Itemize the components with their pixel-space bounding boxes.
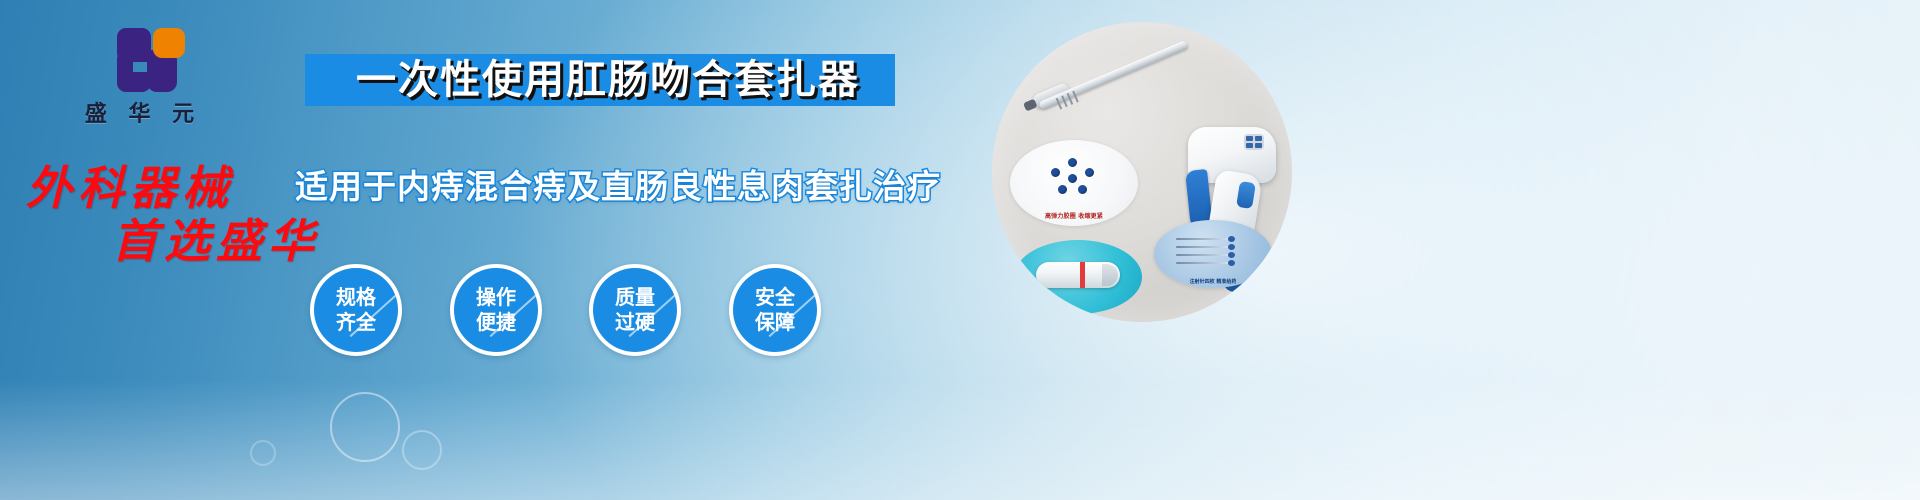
feature-list: 规格 齐全 操作 便捷 质量 过硬 安全 保障 (310, 264, 870, 364)
feature-label-line1: 安全 (755, 285, 795, 310)
decorative-bubble (402, 430, 442, 470)
feature-badge-operation[interactable]: 操作 便捷 (450, 264, 542, 356)
feature-badge-quality[interactable]: 质量 过硬 (589, 264, 681, 356)
feature-label-line1: 规格 (336, 285, 376, 310)
inset-caption-bands: 高弹力胶圈 收缩更紧 (1010, 211, 1138, 220)
inset-anoscope (1014, 240, 1142, 314)
inset-needles: 注射针四枚 精准给药 (1154, 220, 1272, 288)
anoscope-icon (1036, 262, 1120, 288)
brand-logo[interactable]: 盛 华 元 (58, 26, 228, 128)
feature-label-line1: 质量 (615, 285, 655, 310)
decorative-bubble (250, 440, 276, 466)
device-button-pad-icon (1244, 134, 1264, 150)
feature-badge-specifications[interactable]: 规格 齐全 (310, 264, 402, 356)
feature-label-line1: 操作 (476, 285, 516, 310)
feature-label-line2: 保障 (755, 310, 795, 335)
feature-label-line2: 便捷 (476, 310, 516, 335)
page-subtitle: 适用于内痔混合痔及直肠良性息肉套扎治疗 (295, 160, 915, 208)
feature-label-line2: 齐全 (336, 310, 376, 335)
slogan-line-2: 首选盛华 (112, 205, 320, 271)
brand-name: 盛 华 元 (58, 96, 228, 128)
feature-label-line2: 过硬 (615, 310, 655, 335)
rubber-bands-icon (1048, 158, 1100, 198)
page-title: 一次性使用肛肠吻合套扎器 (318, 52, 898, 108)
promo-banner: 盛 华 元 一次性使用肛肠吻合套扎器 外科器械 首选盛华 适用于内痔混合痔及直肠… (0, 0, 1920, 500)
shenghuayuan-logo-icon (95, 26, 191, 92)
bottom-fade (0, 380, 1920, 500)
inset-rubber-bands: 高弹力胶圈 收缩更紧 (1010, 140, 1138, 226)
product-photo: RPH 高弹力胶圈 收缩更紧 (992, 22, 1292, 322)
decorative-bubble (330, 392, 400, 462)
inset-caption-needles: 注射针四枚 精准给药 (1154, 278, 1272, 285)
feature-badge-safety[interactable]: 安全 保障 (729, 264, 821, 356)
